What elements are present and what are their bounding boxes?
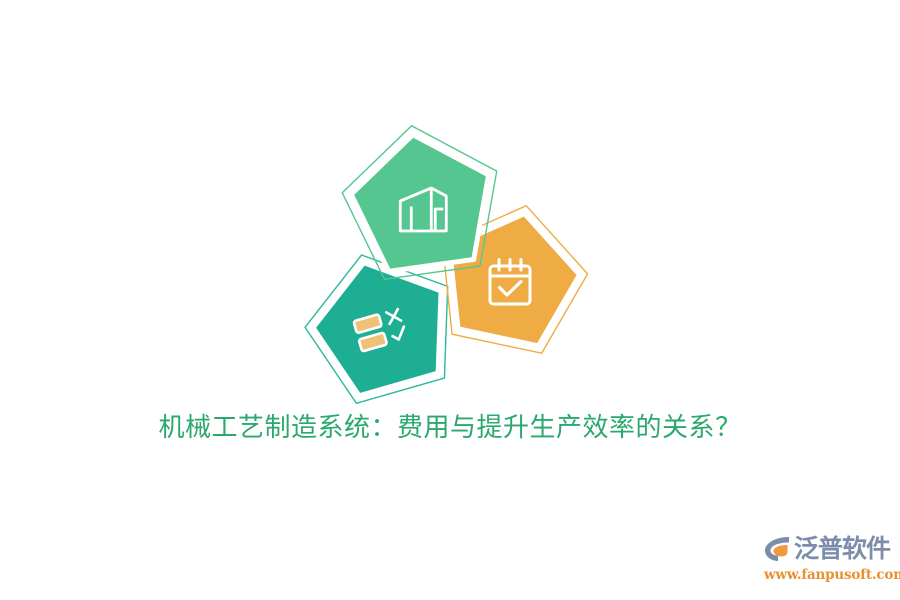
page-title: 机械工艺制造系统：费用与提升生产效率的关系？ bbox=[0, 408, 900, 448]
fanpu-leaf-logo-icon bbox=[762, 534, 792, 564]
pentagon-factory-body bbox=[344, 125, 500, 275]
pentagon-factory bbox=[290, 130, 590, 415]
brand-logo: 泛普软件 www.fanpusoft.com bbox=[762, 532, 892, 590]
brand-url: www.fanpusoft.com bbox=[762, 567, 892, 583]
pentagon-icon-cluster bbox=[290, 130, 590, 415]
banner-image: 机械工艺制造系统：费用与提升生产效率的关系？ 泛普软件 www.fanpusof… bbox=[0, 0, 900, 600]
brand-name: 泛普软件 bbox=[794, 534, 890, 564]
